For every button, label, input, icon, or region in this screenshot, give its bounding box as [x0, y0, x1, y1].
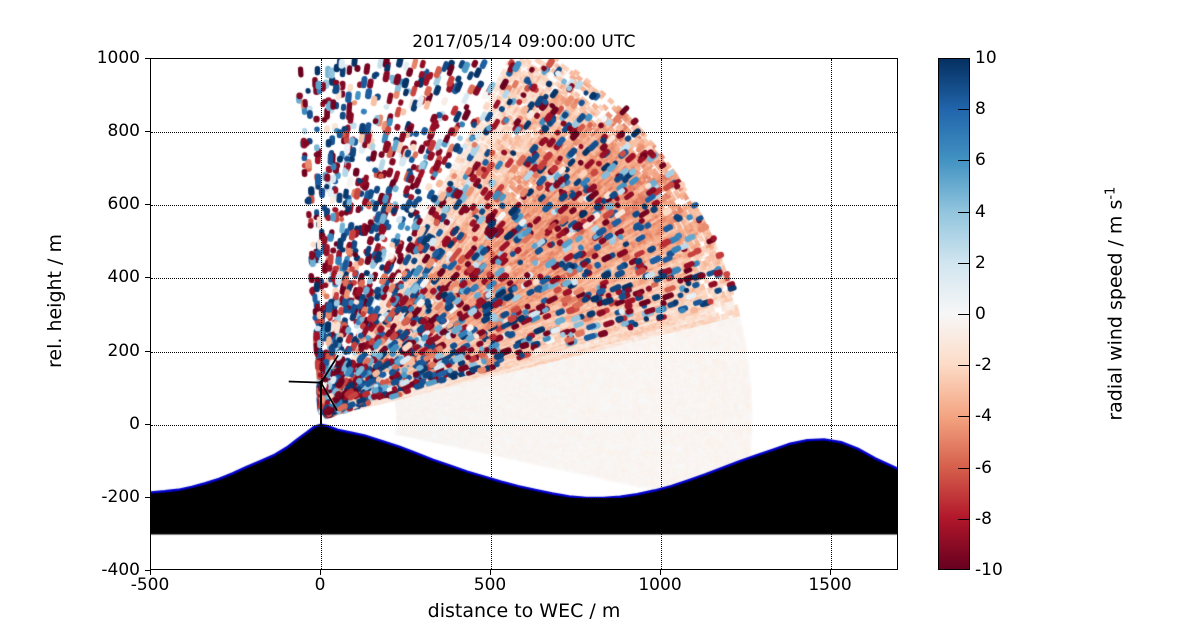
y-tick-mark — [145, 351, 150, 352]
colorbar-label: radial wind speed / m s-1 — [1103, 94, 1126, 514]
y-tick-mark — [145, 570, 150, 571]
colorbar-tick-label: -6 — [975, 458, 992, 478]
x-tick-mark — [660, 570, 661, 575]
grid-line-vertical — [831, 59, 832, 569]
grid-line-vertical — [661, 59, 662, 569]
wind-turbine-glyph — [151, 59, 897, 569]
grid-line-vertical — [491, 59, 492, 569]
x-axis-label: distance to WEC / m — [150, 600, 898, 622]
colorbar-tick-mark — [958, 416, 970, 417]
colorbar-tick-mark — [958, 263, 970, 264]
grid-line-horizontal — [151, 425, 897, 426]
y-tick-label: 600 — [60, 194, 140, 214]
colorbar-tick-mark — [958, 109, 970, 110]
x-tick-mark — [320, 570, 321, 575]
x-tick-mark — [830, 570, 831, 575]
colorbar-tick-mark — [958, 519, 970, 520]
x-tick-mark — [150, 570, 151, 575]
y-tick-label: -200 — [60, 487, 140, 507]
colorbar-tick-label: 2 — [975, 253, 986, 273]
turbine-blade-2 — [289, 382, 321, 383]
x-tick-mark — [490, 570, 491, 575]
grid-line-horizontal — [151, 205, 897, 206]
turbine-blade-1 — [321, 355, 338, 382]
axes-clip-region — [151, 59, 897, 569]
colorbar-tick-mark — [958, 468, 970, 469]
y-tick-mark — [145, 277, 150, 278]
x-tick-label: 500 — [474, 575, 506, 595]
grid-line-horizontal — [151, 498, 897, 499]
colorbar-tick-label: 4 — [975, 202, 986, 222]
y-axis-label: rel. height / m — [44, 171, 66, 431]
colorbar-tick-mark — [958, 365, 970, 366]
x-tick-label: 0 — [315, 575, 326, 595]
figure-canvas: 2017/05/14 09:00:00 UTC -500050010001500… — [0, 0, 1200, 636]
grid-line-horizontal — [151, 278, 897, 279]
y-tick-label: 200 — [60, 341, 140, 361]
colorbar-tick-label: -4 — [975, 406, 992, 426]
turbine-blade-3 — [321, 383, 337, 411]
plot-title: 2017/05/14 09:00:00 UTC — [150, 32, 898, 52]
grid-line-horizontal — [151, 352, 897, 353]
colorbar-label-exponent: -1 — [1103, 187, 1118, 200]
y-tick-label: 1000 — [60, 48, 140, 68]
y-tick-mark — [145, 204, 150, 205]
y-tick-label: 0 — [60, 414, 140, 434]
y-tick-mark — [145, 58, 150, 59]
colorbar-tick-label: 6 — [975, 150, 986, 170]
colorbar-tick-mark — [958, 314, 970, 315]
colorbar-tick-label: 0 — [975, 304, 986, 324]
y-tick-label: 400 — [60, 267, 140, 287]
y-tick-label: 800 — [60, 121, 140, 141]
colorbar-tick-label: 8 — [975, 99, 986, 119]
colorbar-tick-mark — [958, 160, 970, 161]
y-tick-mark — [145, 497, 150, 498]
colorbar-tick-label: -8 — [975, 509, 992, 529]
y-tick-mark — [145, 424, 150, 425]
plot-axes — [150, 58, 898, 570]
grid-line-vertical — [321, 59, 322, 569]
y-tick-mark — [145, 131, 150, 132]
colorbar-tick-label: -10 — [975, 560, 1003, 580]
colorbar-tick-label: -2 — [975, 355, 992, 375]
colorbar-tick-label: 10 — [975, 48, 997, 68]
y-tick-label: -400 — [60, 560, 140, 580]
grid-line-horizontal — [151, 132, 897, 133]
colorbar-tick-mark — [958, 212, 970, 213]
x-tick-label: 1000 — [638, 575, 681, 595]
x-tick-label: 1500 — [808, 575, 851, 595]
colorbar-label-text: radial wind speed / m s — [1105, 200, 1127, 421]
